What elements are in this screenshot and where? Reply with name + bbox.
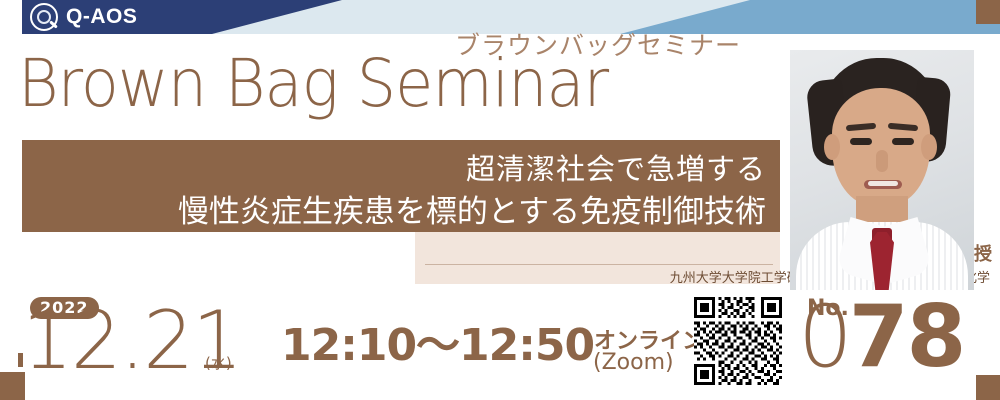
topic-box: 超清潔社会で急増する 慢性炎症生疾患を標的とする免疫制御技術 bbox=[22, 140, 780, 232]
issue-number-value: 078 bbox=[798, 292, 964, 382]
time-range: 12:10〜12:50 bbox=[281, 322, 594, 370]
portrait-teeth bbox=[868, 181, 898, 186]
q-aos-logo-icon bbox=[30, 3, 58, 31]
date-day-of-week: (水) bbox=[205, 352, 232, 373]
issue-number-digits: 78 bbox=[849, 287, 965, 387]
q-aos-logo-text: Q-AOS bbox=[66, 4, 137, 30]
qr-code[interactable] bbox=[694, 297, 782, 385]
portrait-eye-left bbox=[850, 138, 872, 145]
speaker-portrait bbox=[790, 50, 974, 290]
portrait-ear-right bbox=[921, 134, 937, 160]
portrait-nose bbox=[876, 150, 888, 172]
topic-line-1: 超清潔社会で急増する bbox=[466, 146, 766, 188]
page-title: Brown Bag Seminar bbox=[18, 48, 742, 120]
portrait-ear-left bbox=[824, 134, 840, 160]
portrait-eye-right bbox=[892, 138, 914, 145]
venue-label-zoom: (Zoom) bbox=[593, 350, 674, 375]
speaker-divider bbox=[425, 264, 773, 265]
corner-accent-bottom-right bbox=[976, 375, 1000, 400]
qr-code-graphic bbox=[694, 297, 782, 385]
issue-number-zero: 0 bbox=[798, 287, 849, 387]
corner-accent-top-right bbox=[976, 0, 1000, 24]
seminar-poster: Q-AOS ブラウンバッグセミナー Brown Bag Seminar 超清潔社… bbox=[0, 0, 1000, 400]
topic-line-2: 慢性炎症生疾患を標的とする免疫制御技術 bbox=[178, 186, 766, 231]
